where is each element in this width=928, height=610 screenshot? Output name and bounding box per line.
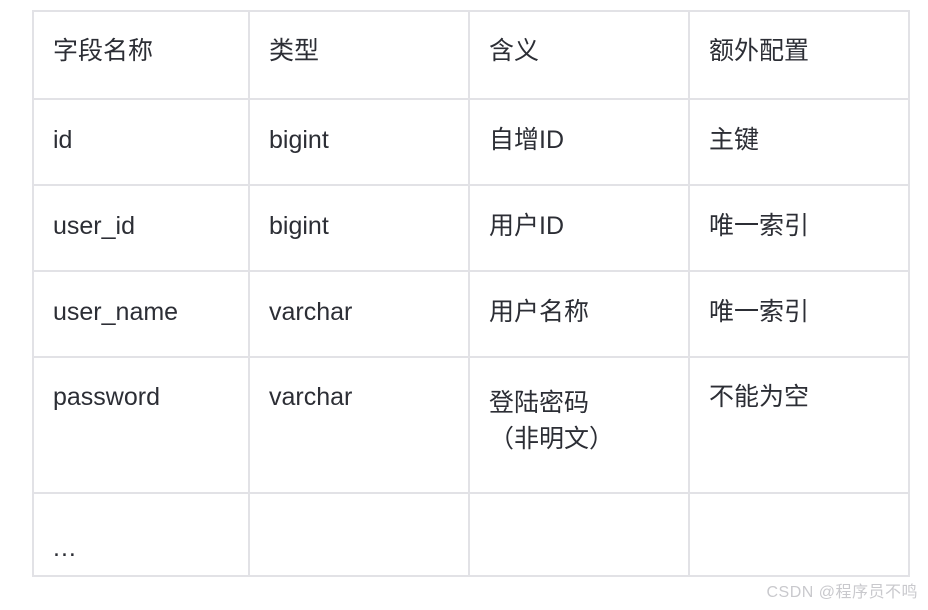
column-header-label: 字段名称 [53, 12, 248, 64]
cell-text: varchar [269, 358, 468, 410]
cell-type: varchar [249, 357, 469, 493]
cell-type: bigint [249, 185, 469, 271]
cell-text: 自增ID [489, 100, 688, 153]
cell-extra-config: 不能为空 [689, 357, 909, 493]
column-header-field-name: 字段名称 [33, 11, 249, 99]
column-header-extra-config: 额外配置 [689, 11, 909, 99]
page-root: 字段名称 类型 含义 额外配置 id bigint [0, 0, 928, 610]
cell-field-name: id [33, 99, 249, 185]
table-body: id bigint 自增ID 主键 user_id bigint [33, 99, 909, 576]
cell-meaning: 登陆密码 （非明文） [469, 357, 689, 493]
cell-meaning: 自增ID [469, 99, 689, 185]
cell-text: ... [53, 494, 248, 561]
cell-text: 用户名称 [489, 272, 688, 325]
table-row: user_id bigint 用户ID 唯一索引 [33, 185, 909, 271]
cell-meaning: 用户名称 [469, 271, 689, 357]
cell-extra-config: 唯一索引 [689, 271, 909, 357]
cell-meaning [469, 493, 689, 576]
column-header-type: 类型 [249, 11, 469, 99]
cell-text: password [53, 358, 248, 410]
column-header-label: 含义 [489, 12, 688, 64]
table-header: 字段名称 类型 含义 额外配置 [33, 11, 909, 99]
table-row: user_name varchar 用户名称 唯一索引 [33, 271, 909, 357]
cell-text: 登陆密码 （非明文） [489, 358, 688, 458]
cell-text: 唯一索引 [709, 186, 908, 239]
cell-extra-config [689, 493, 909, 576]
column-header-label: 额外配置 [709, 12, 908, 64]
database-schema-table: 字段名称 类型 含义 额外配置 id bigint [32, 10, 910, 577]
cell-field-name: ... [33, 493, 249, 576]
cell-text: 主键 [709, 100, 908, 153]
cell-text: bigint [269, 100, 468, 153]
cell-text [709, 494, 908, 536]
cell-field-name: user_id [33, 185, 249, 271]
cell-text: user_name [53, 272, 248, 325]
table-row: id bigint 自增ID 主键 [33, 99, 909, 185]
cell-text [489, 494, 688, 536]
cell-text: id [53, 100, 248, 153]
cell-text [269, 494, 468, 536]
cell-type [249, 493, 469, 576]
cell-text: 不能为空 [709, 358, 908, 410]
table-header-row: 字段名称 类型 含义 额外配置 [33, 11, 909, 99]
cell-type: varchar [249, 271, 469, 357]
cell-meaning: 用户ID [469, 185, 689, 271]
cell-text: varchar [269, 272, 468, 325]
cell-type: bigint [249, 99, 469, 185]
cell-field-name: password [33, 357, 249, 493]
cell-field-name: user_name [33, 271, 249, 357]
cell-text: user_id [53, 186, 248, 239]
cell-text: bigint [269, 186, 468, 239]
cell-text: 唯一索引 [709, 272, 908, 325]
column-header-meaning: 含义 [469, 11, 689, 99]
table-row: ... [33, 493, 909, 576]
cell-extra-config: 唯一索引 [689, 185, 909, 271]
cell-extra-config: 主键 [689, 99, 909, 185]
cell-text: 用户ID [489, 186, 688, 239]
table-row: password varchar 登陆密码 （非明文） 不能为空 [33, 357, 909, 493]
column-header-label: 类型 [269, 12, 468, 64]
csdn-watermark: CSDN @程序员不鸣 [766, 578, 918, 602]
